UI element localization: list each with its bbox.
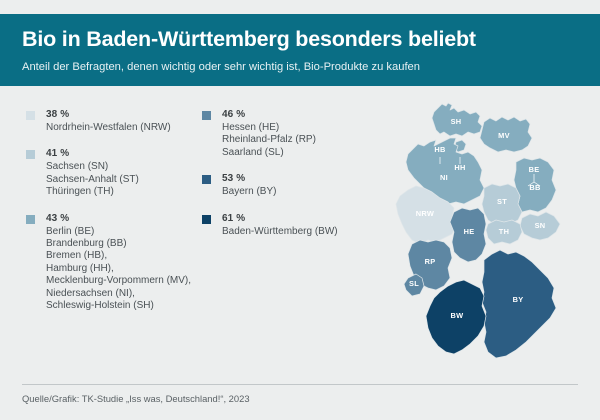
legend-state-name: Mecklenburg-Vorpommern (MV), <box>46 275 206 287</box>
map-region-by[interactable] <box>482 250 556 358</box>
legend-state-name: Thüringen (TH) <box>46 186 206 198</box>
legend-state-name: Schleswig-Holstein (SH) <box>46 300 206 312</box>
legend-state-list: Berlin (BE)Brandenburg (BB)Bremen (HB),H… <box>46 226 206 313</box>
map-label-sl: SL <box>409 279 419 288</box>
legend-group: 43 %Berlin (BE)Brandenburg (BB)Bremen (H… <box>26 212 206 313</box>
legend-state-name: Berlin (BE) <box>46 226 206 238</box>
legend-state-list: Bayern (BY) <box>222 186 392 198</box>
map-label-bw: BW <box>451 311 464 320</box>
legend-state-name: Niedersachsen (NI), <box>46 288 206 300</box>
legend-color-swatch <box>202 111 211 120</box>
map-label-bb: BB <box>529 183 540 192</box>
legend-percent-value: 41 % <box>46 147 206 160</box>
legend-percent-value: 43 % <box>46 212 206 225</box>
legend-state-name: Brandenburg (BB) <box>46 238 206 250</box>
infographic-page: Bio in Baden-Württemberg besonders belie… <box>0 0 600 420</box>
header-banner: Bio in Baden-Württemberg besonders belie… <box>0 14 600 86</box>
legend-group: 38 %Nordrhein-Westfalen (NRW) <box>26 108 206 134</box>
page-title: Bio in Baden-Württemberg besonders belie… <box>22 26 600 52</box>
legend-state-list: Nordrhein-Westfalen (NRW) <box>46 122 206 134</box>
legend-state-name: Bayern (BY) <box>222 186 392 198</box>
map-label-by: BY <box>513 295 524 304</box>
legend-state-name: Sachsen-Anhalt (ST) <box>46 174 206 186</box>
legend-percent-value: 46 % <box>222 108 392 121</box>
map-label-th: TH <box>499 227 509 236</box>
map-label-be: BE <box>529 165 540 174</box>
legend-group: 41 %Sachsen (SN)Sachsen-Anhalt (ST)Thüri… <box>26 147 206 198</box>
legend-state-name: Hamburg (HH), <box>46 263 206 275</box>
legend-group: 61 %Baden-Württemberg (BW) <box>202 212 392 238</box>
legend-state-name: Baden-Württemberg (BW) <box>222 226 392 238</box>
legend-color-swatch <box>202 175 211 184</box>
legend: 38 %Nordrhein-Westfalen (NRW)41 %Sachsen… <box>0 108 400 368</box>
map-label-hh: HH <box>454 163 465 172</box>
legend-color-swatch <box>26 150 35 159</box>
legend-state-name: Hessen (HE) <box>222 122 392 134</box>
map-label-he: HE <box>464 227 475 236</box>
legend-state-list: Sachsen (SN)Sachsen-Anhalt (ST)Thüringen… <box>46 161 206 198</box>
legend-state-name: Saarland (SL) <box>222 147 392 159</box>
legend-group: 46 %Hessen (HE)Rheinland-Pfalz (RP)Saarl… <box>202 108 392 159</box>
legend-percent-value: 38 % <box>46 108 206 121</box>
germany-choropleth-map: SHHHHBNIMVBEBBSTSNTHNRWHERPSLBYBW <box>392 100 592 372</box>
source-note: Quelle/Grafik: TK-Studie „Iss was, Deuts… <box>22 392 250 405</box>
legend-state-name: Nordrhein-Westfalen (NRW) <box>46 122 206 134</box>
legend-percent-value: 53 % <box>222 172 392 185</box>
map-label-sn: SN <box>535 221 546 230</box>
legend-color-swatch <box>26 111 35 120</box>
legend-state-name: Sachsen (SN) <box>46 161 206 173</box>
page-subtitle: Anteil der Befragten, denen wichtig oder… <box>22 60 600 75</box>
legend-state-name: Bremen (HB), <box>46 250 206 262</box>
legend-state-list: Baden-Württemberg (BW) <box>222 226 392 238</box>
map-label-sh: SH <box>451 117 462 126</box>
legend-state-name: Rheinland-Pfalz (RP) <box>222 134 392 146</box>
map-label-mv: MV <box>498 131 510 140</box>
footer-divider <box>22 384 578 385</box>
map-label-hb: HB <box>434 145 445 154</box>
legend-column-left: 38 %Nordrhein-Westfalen (NRW)41 %Sachsen… <box>26 108 206 325</box>
map-label-ni: NI <box>440 173 448 182</box>
legend-column-right: 46 %Hessen (HE)Rheinland-Pfalz (RP)Saarl… <box>202 108 392 251</box>
legend-percent-value: 61 % <box>222 212 392 225</box>
legend-group: 53 %Bayern (BY) <box>202 172 392 198</box>
map-label-st: ST <box>497 197 507 206</box>
legend-color-swatch <box>202 215 211 224</box>
legend-color-swatch <box>26 215 35 224</box>
legend-state-list: Hessen (HE)Rheinland-Pfalz (RP)Saarland … <box>222 122 392 159</box>
map-label-rp: RP <box>425 257 436 266</box>
map-label-nrw: NRW <box>416 209 434 218</box>
